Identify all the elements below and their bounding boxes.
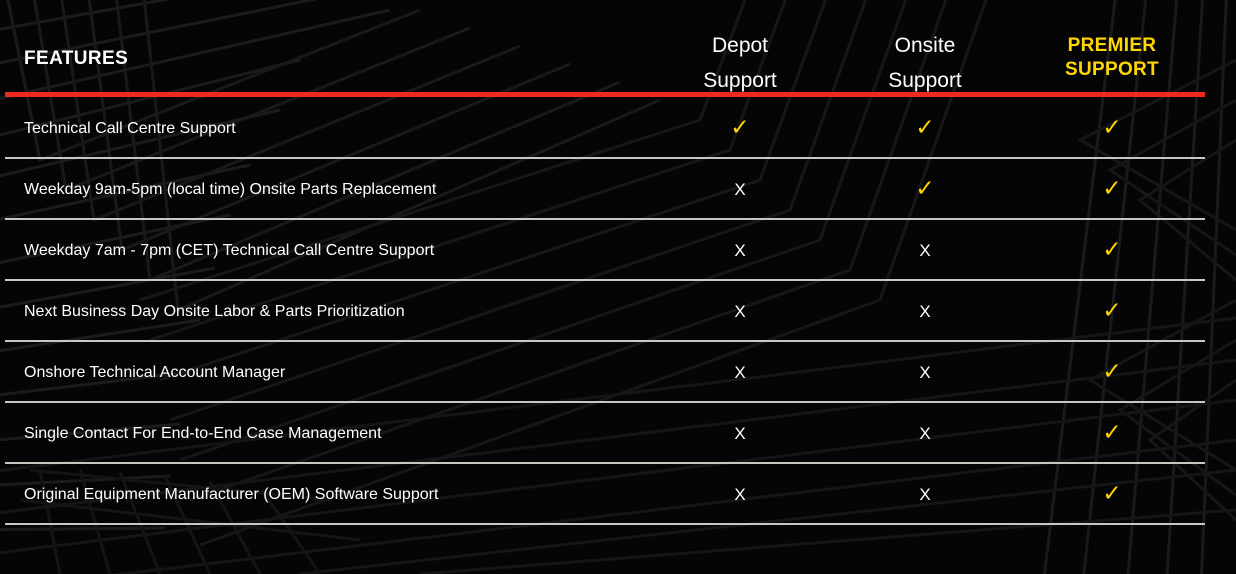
table-row: Single Contact For End-to-End Case Manag… — [0, 403, 1236, 464]
check-icon: ✓ — [1102, 422, 1121, 445]
cell-onsite: X — [825, 281, 1025, 342]
cell-depot: X — [640, 403, 840, 464]
cell-premier: ✓ — [1012, 159, 1212, 220]
table-header: FEATURES Depot Support Onsite Support PR… — [0, 0, 1236, 92]
header-red-divider — [5, 92, 1205, 97]
column-header-premier-support: PREMIER SUPPORT — [1012, 34, 1212, 82]
table-row: Weekday 9am-5pm (local time) Onsite Part… — [0, 159, 1236, 220]
cross-icon: X — [919, 425, 930, 442]
cross-icon: X — [734, 486, 745, 503]
feature-label: Weekday 7am - 7pm (CET) Technical Call C… — [24, 220, 434, 281]
comparison-table: FEATURES Depot Support Onsite Support PR… — [0, 0, 1236, 574]
check-icon: ✓ — [1102, 239, 1121, 262]
column-header-depot-support: Depot Support — [640, 28, 840, 98]
check-icon: ✓ — [1102, 483, 1121, 506]
cross-icon: X — [919, 364, 930, 381]
cell-depot: X — [640, 342, 840, 403]
cell-onsite: X — [825, 220, 1025, 281]
cell-onsite: X — [825, 464, 1025, 525]
cell-onsite: X — [825, 403, 1025, 464]
check-icon: ✓ — [730, 117, 749, 140]
cell-depot: X — [640, 159, 840, 220]
cell-premier: ✓ — [1012, 281, 1212, 342]
cross-icon: X — [734, 242, 745, 259]
table-row: Technical Call Centre Support✓✓✓ — [0, 98, 1236, 159]
cell-depot: X — [640, 464, 840, 525]
features-column-title: FEATURES — [24, 48, 128, 70]
cell-depot: X — [640, 220, 840, 281]
cell-depot: X — [640, 281, 840, 342]
table-row: Next Business Day Onsite Labor & Parts P… — [0, 281, 1236, 342]
cell-onsite: ✓ — [825, 159, 1025, 220]
row-divider — [5, 523, 1205, 525]
cross-icon: X — [919, 486, 930, 503]
cross-icon: X — [734, 425, 745, 442]
cross-icon: X — [919, 242, 930, 259]
cross-icon: X — [919, 303, 930, 320]
feature-label: Weekday 9am-5pm (local time) Onsite Part… — [24, 159, 436, 220]
cell-premier: ✓ — [1012, 403, 1212, 464]
feature-label: Original Equipment Manufacturer (OEM) So… — [24, 464, 438, 525]
cell-premier: ✓ — [1012, 98, 1212, 159]
cell-premier: ✓ — [1012, 342, 1212, 403]
column-header-onsite-support: Onsite Support — [825, 28, 1025, 98]
cross-icon: X — [734, 181, 745, 198]
feature-label: Next Business Day Onsite Labor & Parts P… — [24, 281, 405, 342]
cell-premier: ✓ — [1012, 220, 1212, 281]
feature-label: Technical Call Centre Support — [24, 98, 236, 159]
table-row: Onshore Technical Account ManagerXX✓ — [0, 342, 1236, 403]
feature-label: Single Contact For End-to-End Case Manag… — [24, 403, 382, 464]
check-icon: ✓ — [1102, 361, 1121, 384]
check-icon: ✓ — [1102, 300, 1121, 323]
check-icon: ✓ — [915, 117, 934, 140]
table-row: Original Equipment Manufacturer (OEM) So… — [0, 464, 1236, 525]
cell-premier: ✓ — [1012, 464, 1212, 525]
check-icon: ✓ — [1102, 117, 1121, 140]
check-icon: ✓ — [1102, 178, 1121, 201]
cell-onsite: X — [825, 342, 1025, 403]
cell-onsite: ✓ — [825, 98, 1025, 159]
cell-depot: ✓ — [640, 98, 840, 159]
support-tier-comparison-table: FEATURES Depot Support Onsite Support PR… — [0, 0, 1236, 574]
cross-icon: X — [734, 364, 745, 381]
feature-label: Onshore Technical Account Manager — [24, 342, 285, 403]
check-icon: ✓ — [915, 178, 934, 201]
table-row: Weekday 7am - 7pm (CET) Technical Call C… — [0, 220, 1236, 281]
cross-icon: X — [734, 303, 745, 320]
